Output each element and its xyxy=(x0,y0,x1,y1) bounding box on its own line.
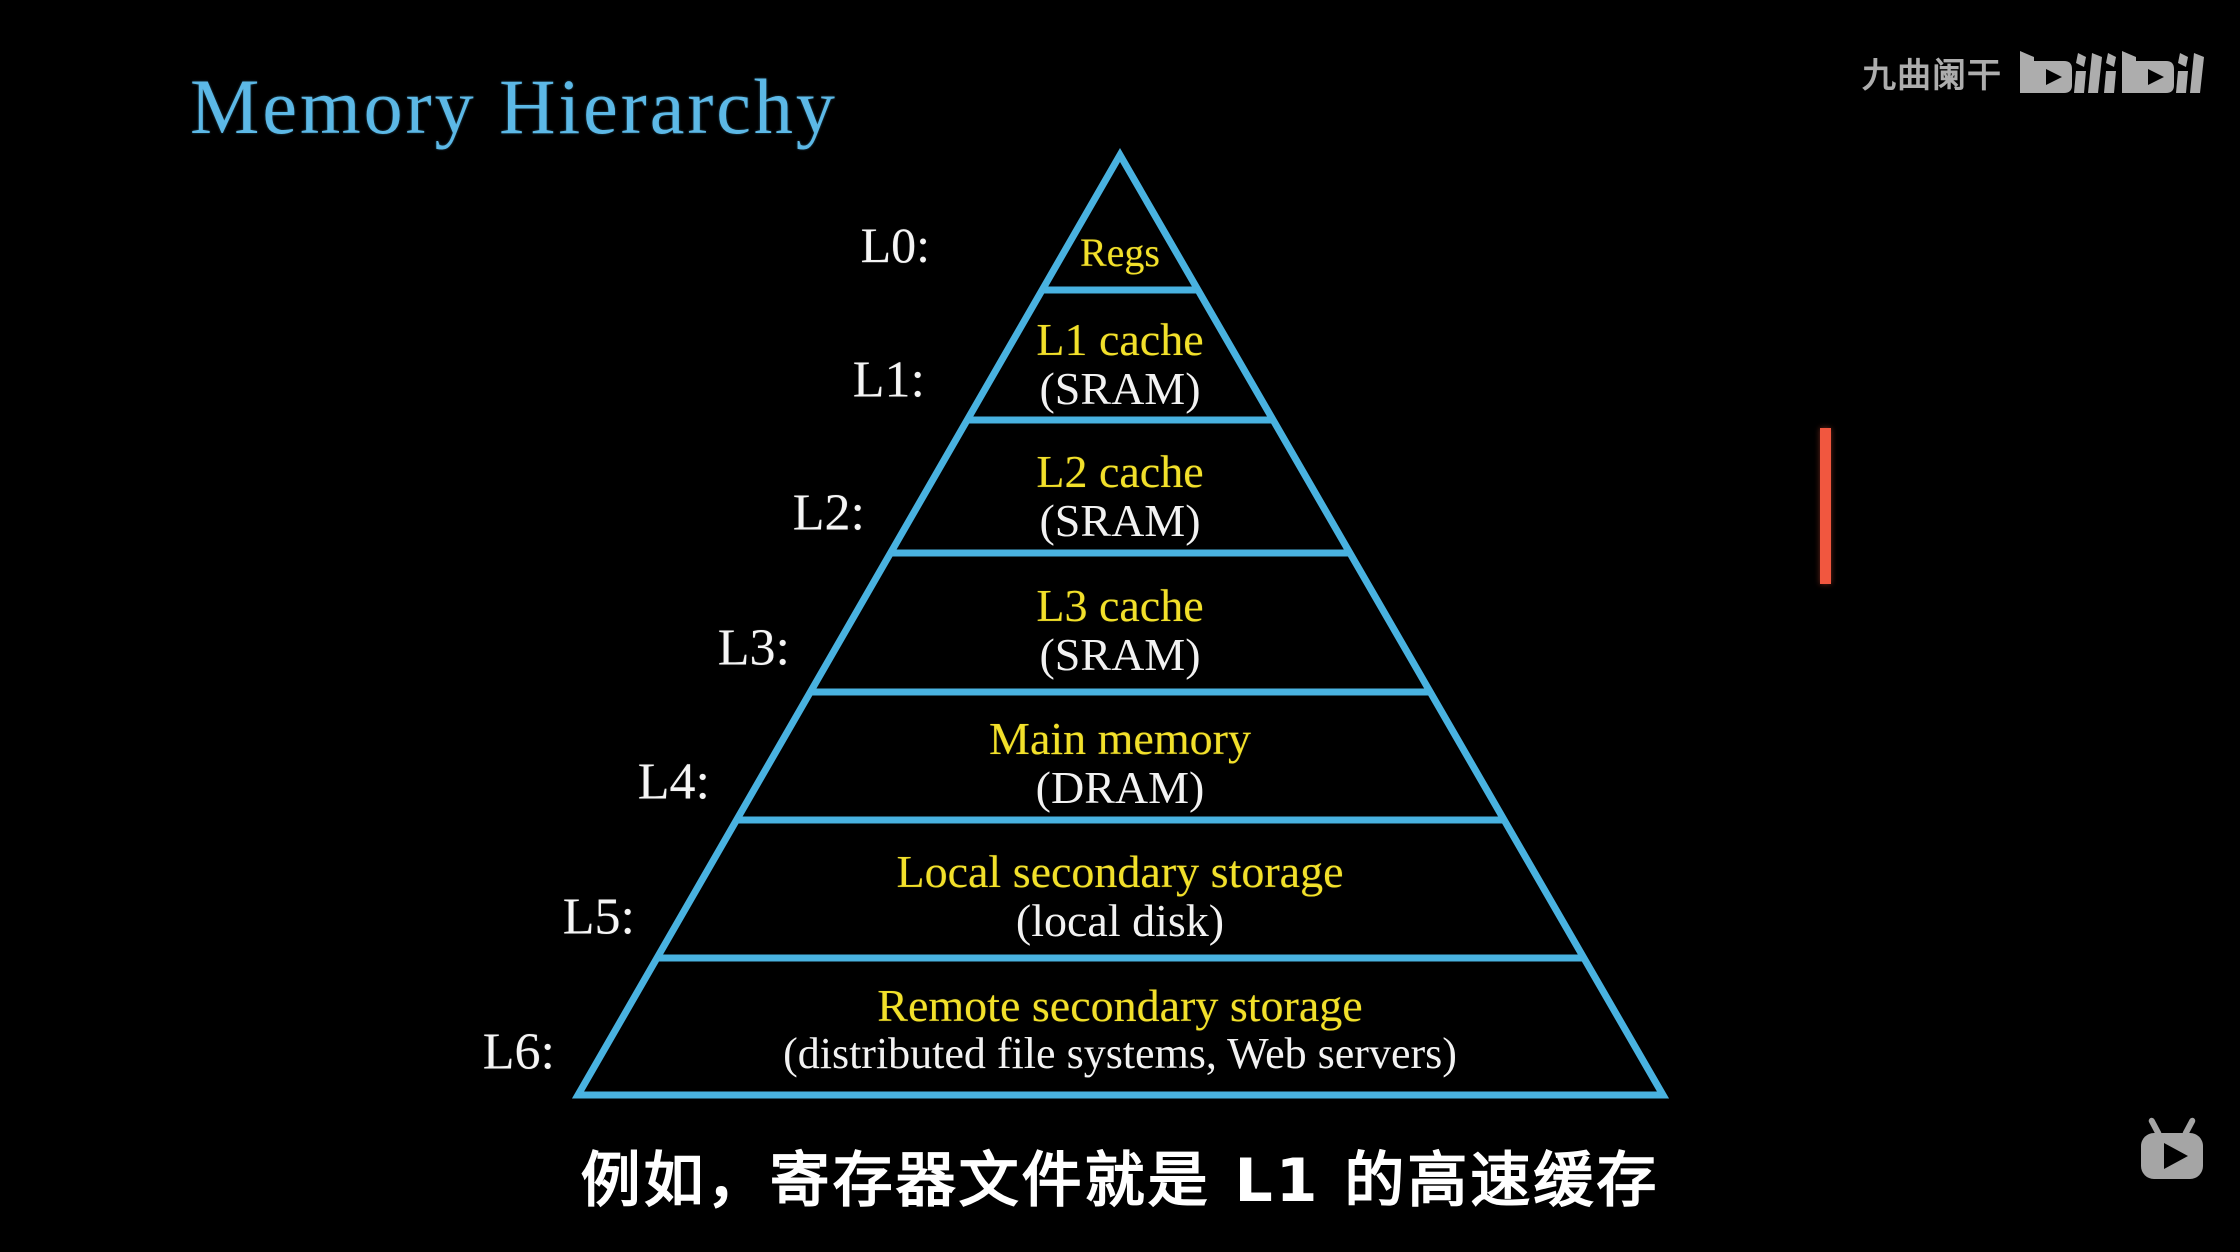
tier-secondary-label-l1: (SRAM) xyxy=(1036,365,1203,414)
tier-text-l3: L3 cache(SRAM) xyxy=(1036,582,1203,680)
slide-canvas: Memory Hierarchy 九曲阑干 xyxy=(0,0,2240,1252)
tier-primary-label-l3: L3 cache xyxy=(1036,582,1203,631)
tier-text-l6: Remote secondary storage(distributed fil… xyxy=(783,982,1457,1077)
watermark: 九曲阑干 xyxy=(1862,48,2208,97)
bilibili-logo-icon xyxy=(2018,49,2208,97)
watermark-channel-name: 九曲阑干 xyxy=(1862,48,2002,97)
tier-secondary-label-l6: (distributed file systems, Web servers) xyxy=(783,1031,1457,1078)
tier-primary-label-l5: Local secondary storage xyxy=(896,848,1343,897)
tier-primary-label-l6: Remote secondary storage xyxy=(783,982,1457,1031)
level-label-l4: L4: xyxy=(638,753,710,812)
tier-secondary-label-l2: (SRAM) xyxy=(1036,497,1203,546)
tier-secondary-label-l5: (local disk) xyxy=(896,897,1343,946)
level-label-l1: L1: xyxy=(853,351,925,410)
level-label-l0: L0: xyxy=(861,216,930,274)
tier-primary-label-l1: L1 cache xyxy=(1036,316,1203,365)
tier-primary-label-l0: Regs xyxy=(1080,232,1160,274)
tier-primary-label-l4: Main memory xyxy=(989,715,1251,764)
level-label-l5: L5: xyxy=(563,888,635,947)
tier-primary-label-l2: L2 cache xyxy=(1036,448,1203,497)
tier-secondary-label-l3: (SRAM) xyxy=(1036,631,1203,680)
tier-text-l5: Local secondary storage(local disk) xyxy=(896,848,1343,946)
page-title: Memory Hierarchy xyxy=(190,62,838,152)
tier-text-l2: L2 cache(SRAM) xyxy=(1036,448,1203,546)
red-marker-bar xyxy=(1820,428,1831,584)
bilibili-tv-play-icon[interactable] xyxy=(2134,1115,2210,1190)
level-label-l2: L2: xyxy=(793,484,865,543)
tier-text-l0: Regs xyxy=(1080,232,1160,274)
subtitle-caption: 例如，寄存器文件就是 L1 的高速缓存 xyxy=(0,1132,2240,1219)
level-label-l6: L6: xyxy=(483,1023,555,1082)
level-label-l3: L3: xyxy=(718,619,790,678)
tier-text-l4: Main memory(DRAM) xyxy=(989,715,1251,813)
tier-secondary-label-l4: (DRAM) xyxy=(989,764,1251,813)
tier-text-l1: L1 cache(SRAM) xyxy=(1036,316,1203,414)
